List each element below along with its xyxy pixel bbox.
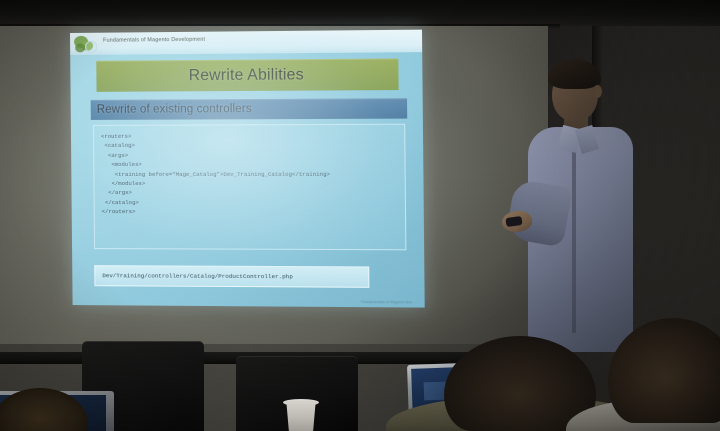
slide-file-path-box: Dev/Training/controllers/Catalog/Product…: [94, 265, 369, 288]
projected-slide: Fundamentals of Magento Development Rewr…: [70, 30, 425, 308]
presenter-speaker: [520, 55, 670, 355]
presentation-room-photo: Fundamentals of Magento Development Rewr…: [0, 0, 720, 431]
presenter-shirt-placket: [572, 143, 576, 333]
slide-title-bar: Rewrite Abilities: [96, 58, 398, 91]
coffee-cup: [285, 401, 317, 431]
magento-leaf-logo: [72, 33, 102, 59]
slide-code-text: <routers> <catalog> <args> <modules> <tr…: [101, 131, 330, 217]
slide-title: Rewrite Abilities: [189, 66, 304, 85]
slide-subtitle: Rewrite of existing controllers: [97, 103, 252, 116]
slide-header-text: Fundamentals of Magento Development: [103, 37, 205, 44]
table-edge: [0, 352, 470, 364]
slide-footer-text: Fundamentals of Magento Dev: [361, 300, 412, 304]
slide-header-strip: Fundamentals of Magento Development: [70, 30, 422, 55]
slide-code-block: <routers> <catalog> <args> <modules> <tr…: [93, 124, 407, 251]
slide-file-path: Dev/Training/controllers/Catalog/Product…: [102, 272, 293, 280]
presenter-ear: [593, 85, 602, 98]
presenter-hair: [548, 59, 601, 89]
ceiling-band: [0, 0, 720, 26]
slide-subtitle-bar: Rewrite of existing controllers: [91, 98, 408, 120]
